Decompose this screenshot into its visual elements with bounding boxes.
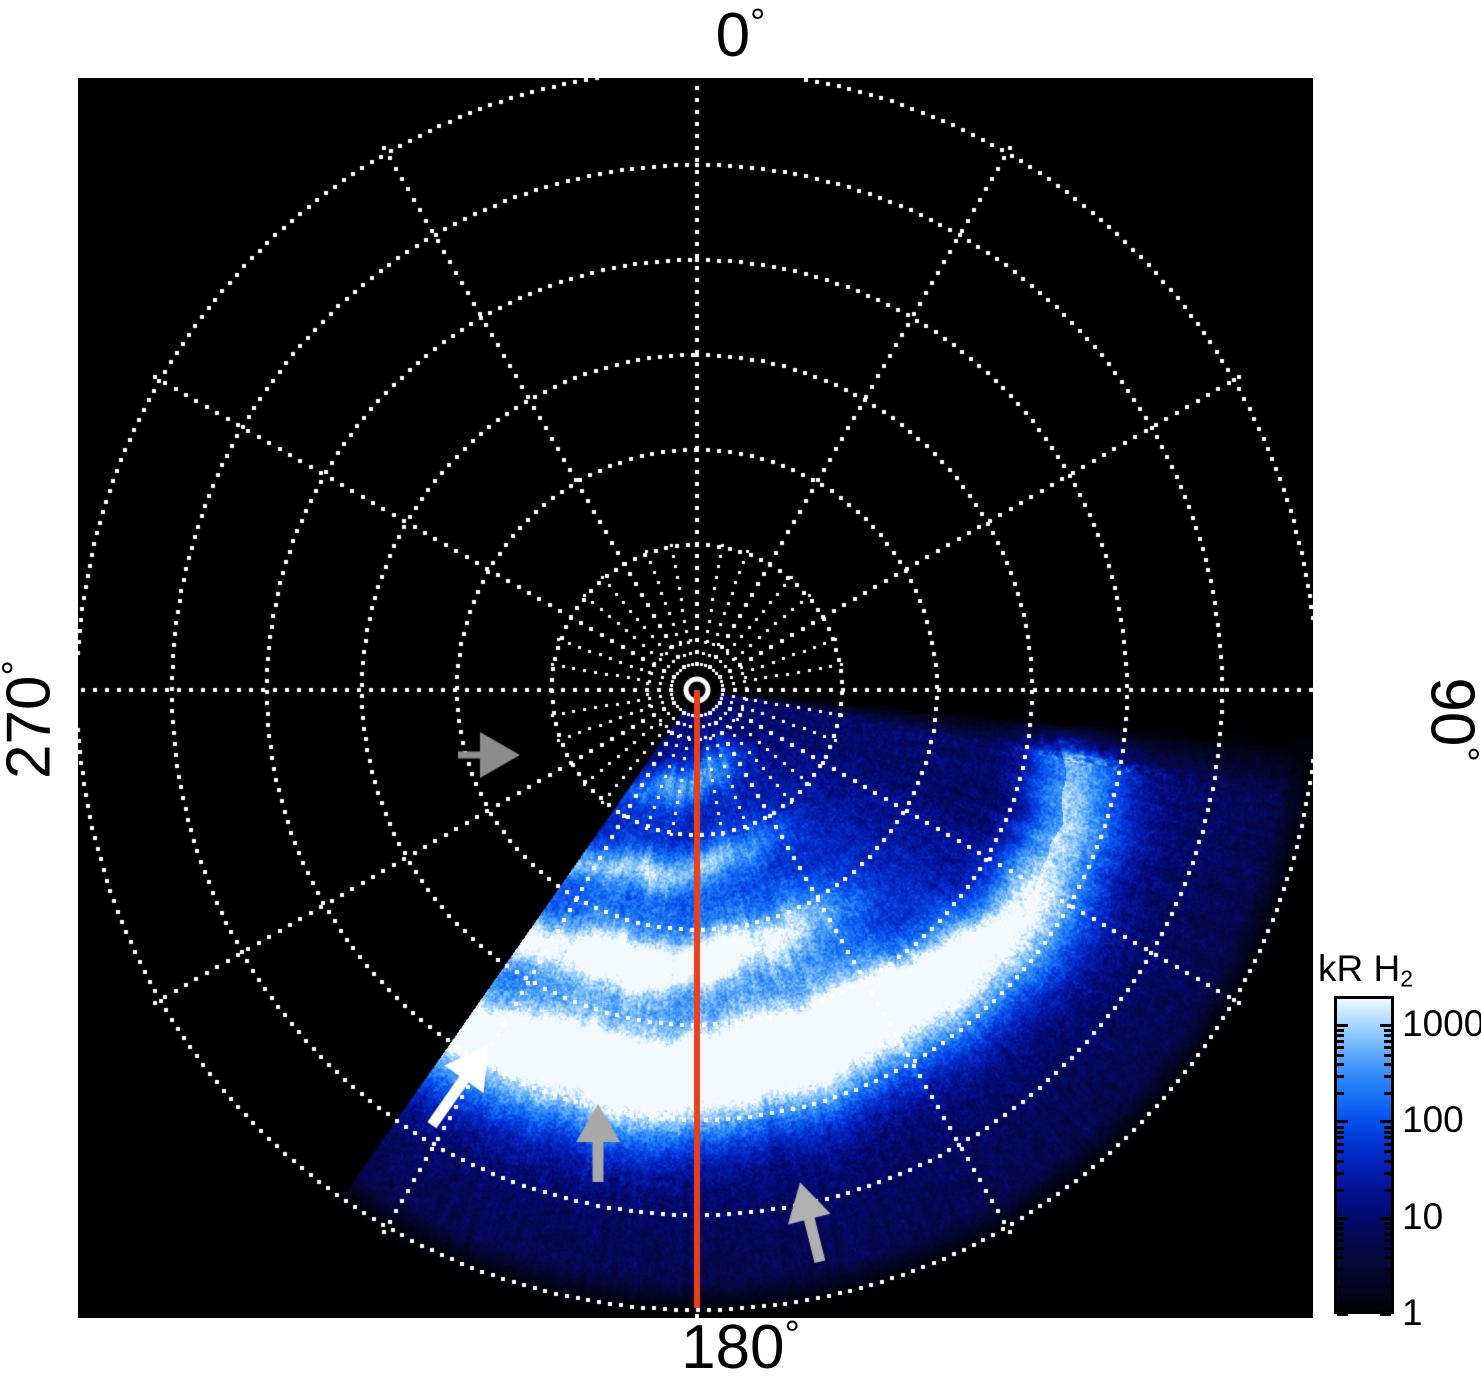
colorbar-tick-minor: [1384, 1222, 1391, 1225]
colorbar-tick-minor: [1384, 1256, 1391, 1259]
colorbar-tick-minor: [1384, 1040, 1391, 1043]
colorbar-tick-minor: [1384, 1136, 1391, 1139]
colorbar-tick-minor: [1337, 1150, 1344, 1153]
colorbar-tick-minor: [1384, 1150, 1391, 1153]
colorbar-tick-minor: [1384, 1075, 1391, 1078]
colorbar-tick-minor: [1384, 1034, 1391, 1037]
colorbar-tick-minor: [1337, 1126, 1344, 1129]
colorbar-tick-label: 100: [1402, 1101, 1464, 1138]
colorbar-tick-minor: [1337, 1075, 1344, 1078]
colorbar-tick-minor: [1337, 1222, 1344, 1225]
colorbar-tick-minor: [1384, 1092, 1391, 1095]
polar-plot-area: [78, 78, 1313, 1318]
colorbar-tick-minor: [1384, 1160, 1391, 1163]
colorbar-tick-minor: [1337, 1092, 1344, 1095]
colorbar-tick-minor: [1337, 1136, 1344, 1139]
aurora-heatmap-canvas: [78, 78, 1313, 1318]
colorbar-tick-minor: [1337, 1268, 1344, 1271]
colorbar-tick-label: 1000: [1402, 1005, 1481, 1042]
colorbar-tick-major: [1337, 1217, 1348, 1220]
colorbar-tick-minor: [1337, 1256, 1344, 1259]
colorbar-tick-minor: [1384, 1046, 1391, 1049]
colorbar-tick-major: [1337, 1024, 1348, 1027]
colorbar-gradient: [1334, 996, 1394, 1314]
colorbar-tick-label: 1: [1402, 1294, 1423, 1331]
colorbar-tick-minor: [1337, 1172, 1344, 1175]
colorbar-tick-minor: [1337, 1034, 1344, 1037]
colorbar-tick-label: 10: [1402, 1198, 1443, 1235]
axis-label-270deg: 270°: [0, 605, 61, 835]
colorbar-tick-minor: [1337, 1239, 1344, 1242]
colorbar-tick-minor: [1337, 1054, 1344, 1057]
colorbar-tick-minor: [1337, 1247, 1344, 1250]
colorbar-tick-minor: [1384, 1126, 1391, 1129]
colorbar-tick-minor: [1384, 1268, 1391, 1271]
colorbar-tick-minor: [1384, 996, 1391, 999]
colorbar-tick-major: [1380, 1217, 1391, 1220]
colorbar: kR H2 1000100101: [1318, 948, 1481, 1328]
colorbar-tick-minor: [1384, 1189, 1391, 1192]
colorbar-tick-major: [1380, 1313, 1391, 1316]
axis-label-180deg: 180°: [0, 1316, 1481, 1379]
colorbar-tick-minor: [1384, 1172, 1391, 1175]
axis-label-0deg: 0°: [0, 4, 1481, 67]
colorbar-tick-minor: [1337, 1227, 1344, 1230]
colorbar-tick-major: [1380, 1024, 1391, 1027]
colorbar-tick-minor: [1337, 1040, 1344, 1043]
colorbar-tick-minor: [1384, 1247, 1391, 1250]
colorbar-tick-minor: [1384, 1233, 1391, 1236]
colorbar-tick-minor: [1384, 1239, 1391, 1242]
colorbar-tick-minor: [1384, 1143, 1391, 1146]
colorbar-tick-minor: [1384, 1285, 1391, 1288]
colorbar-tick-minor: [1384, 1029, 1391, 1032]
colorbar-tick-minor: [1337, 1160, 1344, 1163]
colorbar-tick-minor: [1337, 1233, 1344, 1236]
colorbar-tick-minor: [1384, 1227, 1391, 1230]
colorbar-tick-minor: [1337, 1063, 1344, 1066]
colorbar-tick-minor: [1337, 1029, 1344, 1032]
colorbar-title: kR H2: [1318, 948, 1413, 993]
colorbar-tick-minor: [1337, 1285, 1344, 1288]
colorbar-tick-minor: [1384, 1131, 1391, 1134]
colorbar-tick-minor: [1337, 996, 1344, 999]
colorbar-tick-minor: [1384, 1054, 1391, 1057]
colorbar-tick-minor: [1337, 1046, 1344, 1049]
colorbar-tick-minor: [1337, 1189, 1344, 1192]
colorbar-tick-minor: [1337, 1143, 1344, 1146]
colorbar-tick-major: [1380, 1120, 1391, 1123]
colorbar-tick-major: [1337, 1120, 1348, 1123]
colorbar-tick-minor: [1337, 1131, 1344, 1134]
colorbar-tick-major: [1337, 1313, 1348, 1316]
colorbar-tick-minor: [1384, 1063, 1391, 1066]
axis-label-90deg: 90°: [1420, 605, 1481, 835]
